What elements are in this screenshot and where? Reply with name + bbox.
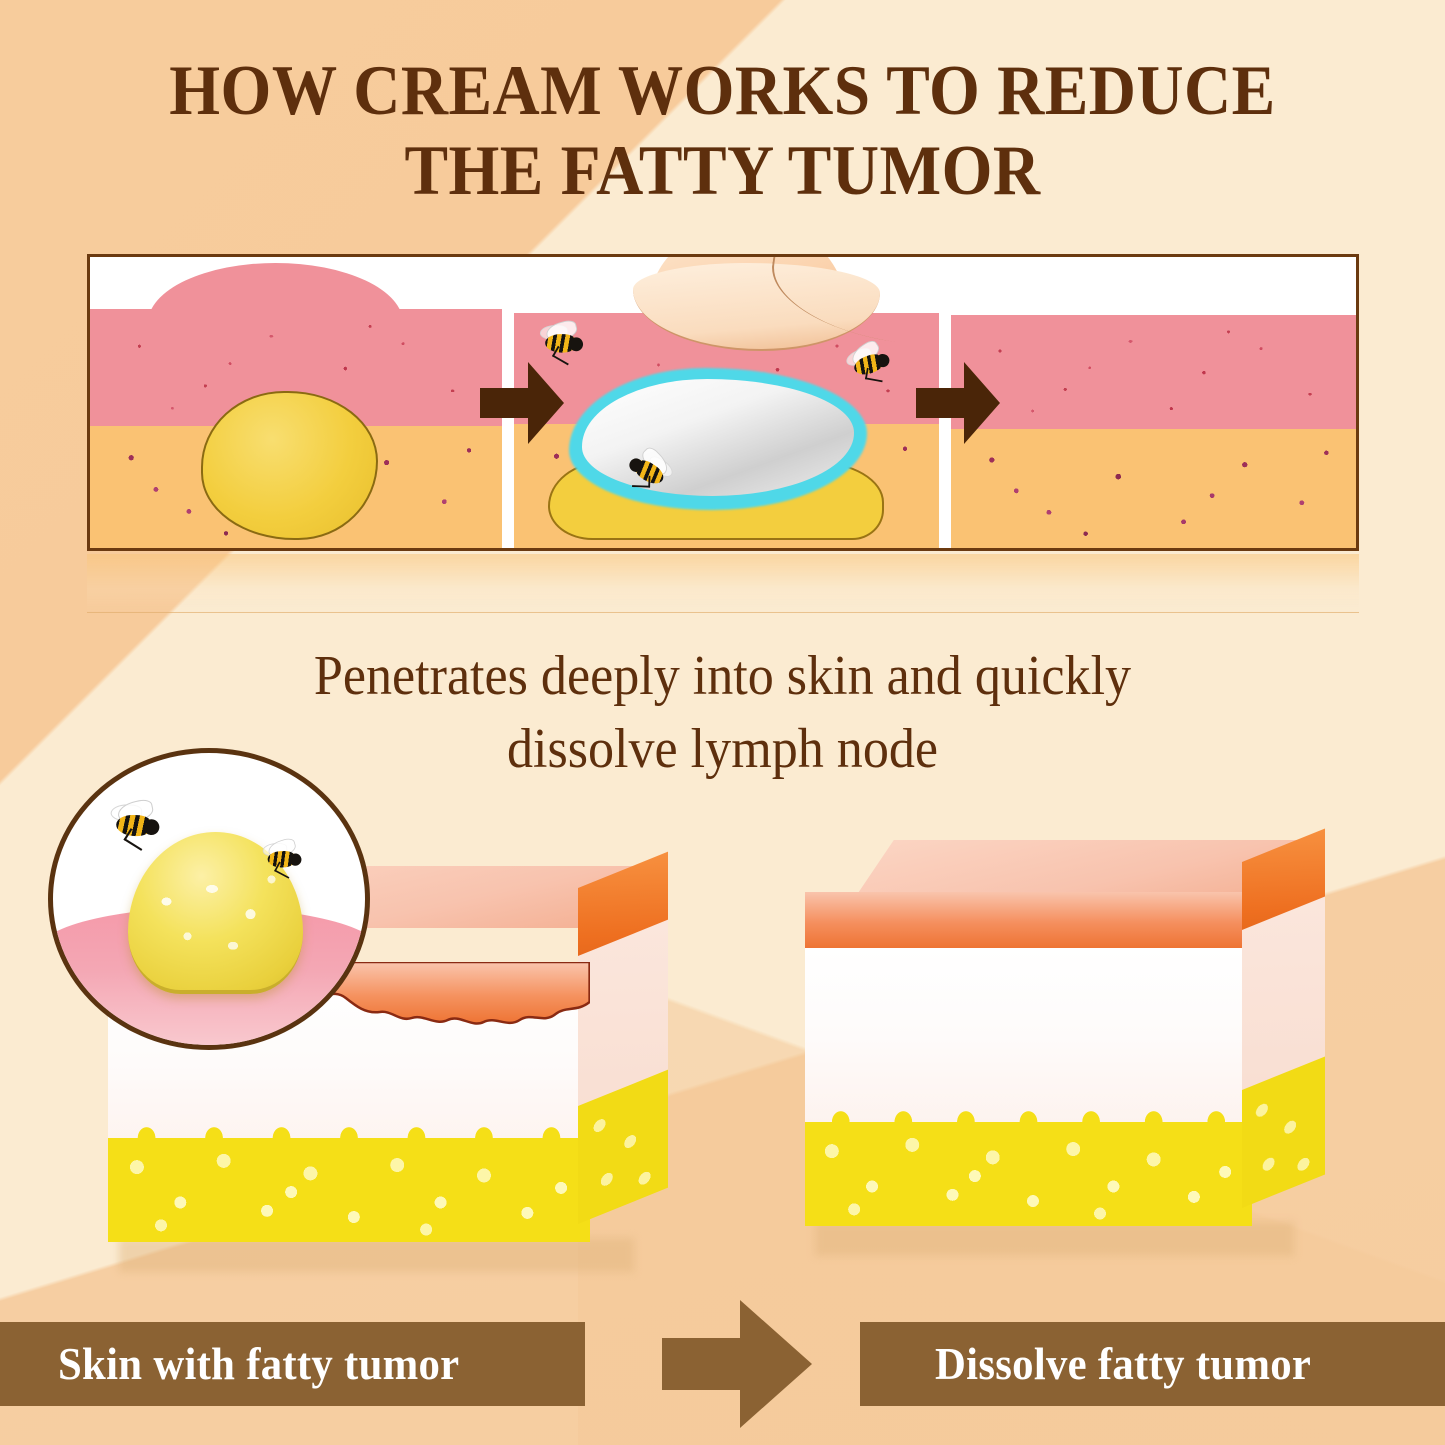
magnifier-circle-icon <box>48 748 370 1050</box>
label-dissolve-fatty-tumor: Dissolve fatty tumor <box>935 1338 1311 1390</box>
arrow-right-icon <box>916 362 1000 444</box>
dermis-layer <box>951 315 1359 435</box>
fat-layer <box>951 429 1359 548</box>
panel-reflection <box>87 554 1359 613</box>
arrow-right-icon <box>662 1300 812 1433</box>
fat-cells-crest <box>805 1100 1252 1122</box>
fat-cell-layer <box>108 1138 590 1242</box>
block-shadow <box>119 1238 634 1272</box>
label-bar-right: Dissolve fatty tumor <box>860 1322 1445 1406</box>
label-bar-left: Skin with fatty tumor <box>0 1322 585 1406</box>
fatty-tumor-lump <box>201 391 378 541</box>
page-title-line-2: THE FATTY TUMOR <box>58 132 1387 212</box>
skin-block-dissolved <box>805 840 1325 1270</box>
fat-cells-crest <box>108 1116 590 1138</box>
fat-cell-layer <box>805 1122 1252 1226</box>
block-shadow <box>815 1222 1293 1256</box>
page-title-line-1: HOW CREAM WORKS TO REDUCE <box>169 52 1275 130</box>
panel-cream-applied <box>514 257 939 548</box>
page-title: HOW CREAM WORKS TO REDUCE THE FATTY TUMO… <box>58 52 1387 211</box>
epidermis-front-face <box>805 892 1252 948</box>
arrow-right-icon <box>480 362 564 444</box>
bee-icon <box>95 797 168 854</box>
panel-skin-with-tumor <box>90 257 502 548</box>
subtitle-line-1: Penetrates deeply into skin and quickly <box>51 640 1395 713</box>
label-skin-with-fatty-tumor: Skin with fatty tumor <box>58 1338 459 1390</box>
bee-icon <box>838 344 897 386</box>
panel-healed-skin <box>951 257 1359 548</box>
infographic-root: HOW CREAM WORKS TO REDUCE THE FATTY TUMO… <box>0 0 1445 1445</box>
process-triptych <box>87 254 1359 551</box>
